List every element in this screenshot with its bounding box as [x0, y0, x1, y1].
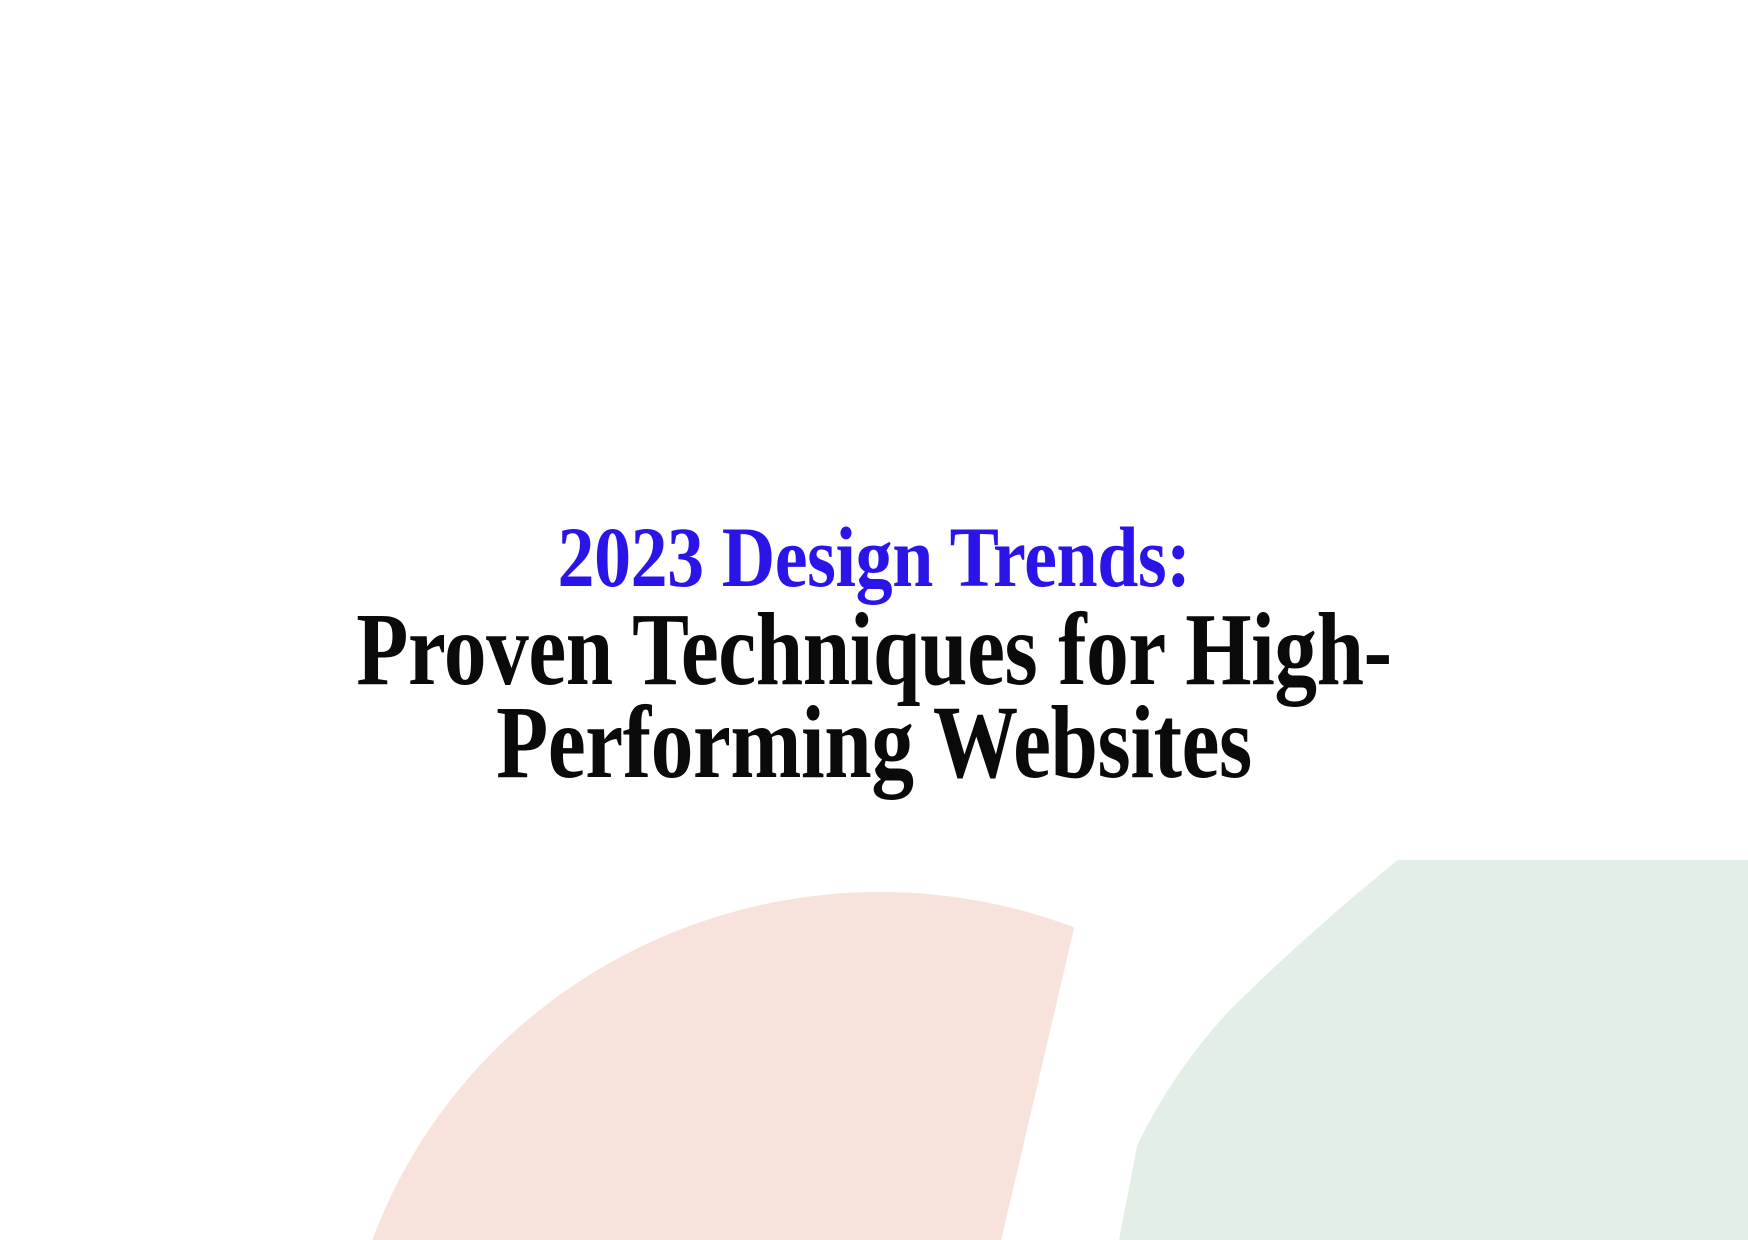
title-line-main-2: Performing Websites: [325, 694, 1424, 793]
title-block: 2023 Design Trends: Proven Techniques fo…: [0, 0, 1748, 1240]
slide-canvas: 2023 Design Trends: Proven Techniques fo…: [0, 0, 1748, 1240]
title-line-accent: 2023 Design Trends:: [298, 517, 1450, 599]
page-title: 2023 Design Trends: Proven Techniques fo…: [204, 517, 1544, 792]
